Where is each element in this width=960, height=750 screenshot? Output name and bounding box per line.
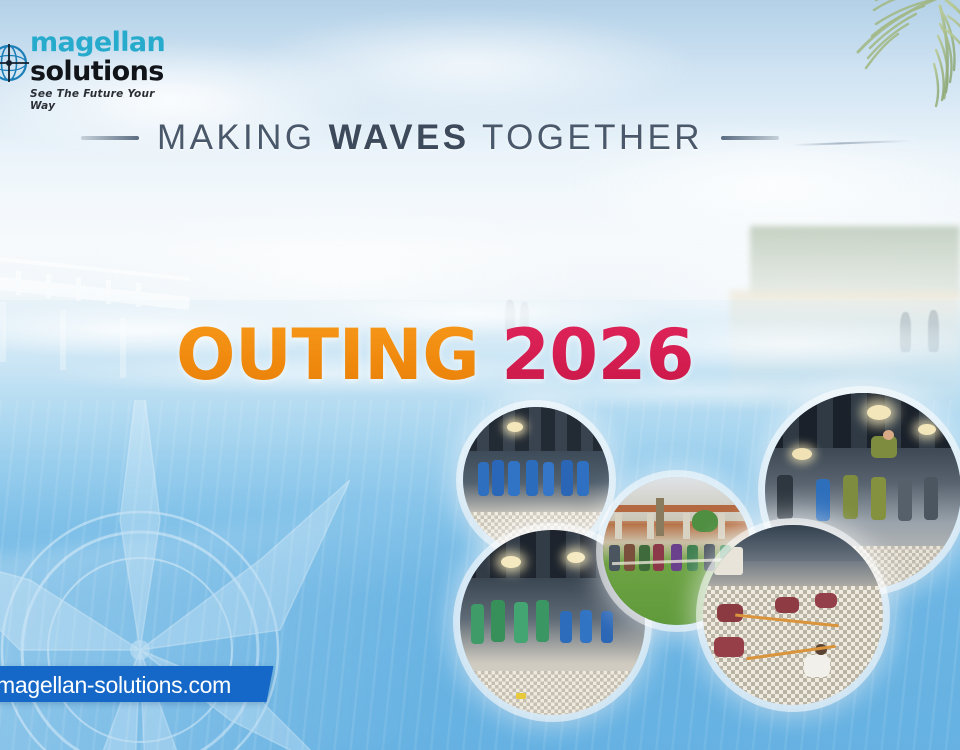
kicker-dash-right: [721, 136, 779, 140]
subtitle: OUTING2026: [176, 318, 876, 392]
summer-outing-banner: magellan solutions See The Future Your W…: [0, 0, 960, 750]
main-title-wrap: SUMMER: [58, 162, 878, 322]
subtitle-year: 2026: [501, 314, 694, 396]
brand-name-line2: solutions: [30, 58, 176, 86]
main-title: SUMMER: [58, 162, 878, 322]
pier-pile: [0, 302, 6, 362]
brand-logo[interactable]: magellan solutions See The Future Your W…: [0, 28, 176, 106]
photo-seated-rope-game[interactable]: [703, 525, 883, 705]
pier-post: [16, 271, 21, 295]
pier-post: [46, 274, 51, 298]
brand-name-line1: magellan: [30, 28, 176, 58]
kicker-dash-left: [81, 136, 139, 140]
photo-collage: [455, 385, 960, 725]
brand-wordmark: magellan solutions See The Future Your W…: [30, 28, 176, 112]
globe-compass-icon: [0, 40, 32, 86]
brand-tagline: See The Future Your Way: [30, 88, 176, 112]
subtitle-word: OUTING: [176, 314, 479, 396]
cloud: [240, 10, 700, 120]
website-url[interactable]: magellan-solutions.com: [0, 672, 288, 698]
